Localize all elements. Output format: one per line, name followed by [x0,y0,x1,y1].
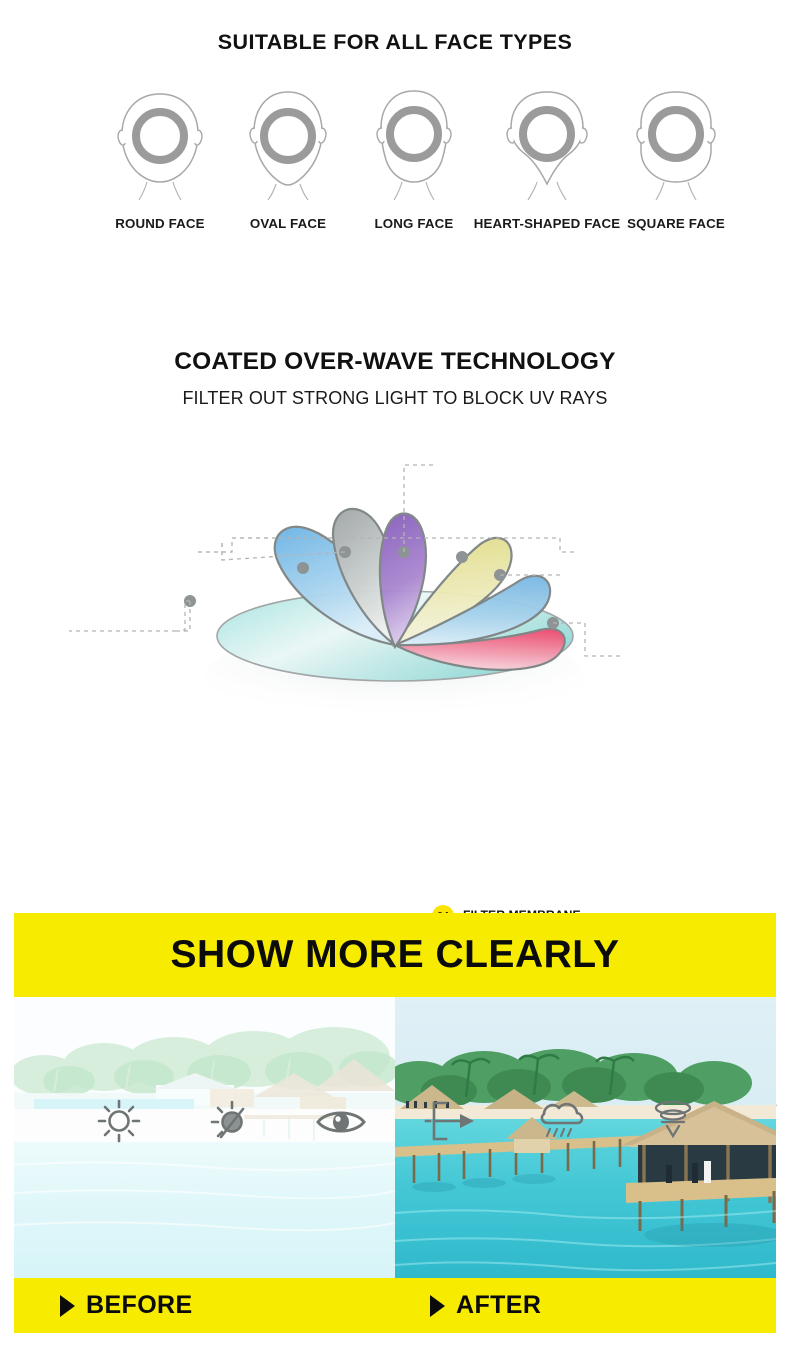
face-label-heart: HEART-SHAPED FACE [474,216,621,231]
technology-title: COATED OVER-WAVE TECHNOLOGY [0,348,790,376]
before-after-footer: BEFORE AFTER [14,1278,776,1333]
after-label: AFTER [456,1291,541,1320]
face-types-section: SUITABLE FOR ALL FACE TYPES ROUND FACE [0,0,790,300]
square-face-icon [628,88,724,200]
infographic-page: SUITABLE FOR ALL FACE TYPES ROUND FACE [0,0,790,1347]
face-types-row: ROUND FACE OVAL FACE [95,88,735,253]
feature-circle-wind [633,1088,711,1166]
feature-circle-sun [79,1088,157,1166]
rain-cloud-icon [523,1089,600,1166]
before-label: BEFORE [86,1291,193,1320]
face-card-long: LONG FACE [351,88,477,253]
face-types-title: SUITABLE FOR ALL FACE TYPES [0,30,790,55]
face-card-square: SQUARE FACE [617,88,735,253]
lens-layer-diagram: 04 FILTER MEMBRANE UV400 DOUBLE PROTECTI… [0,440,790,770]
technology-subtitle: FILTER OUT STRONG LIGHT TO BLOCK UV RAYS [0,388,790,409]
feature-circle-transmission [411,1088,489,1166]
show-more-clearly-banner: SHOW MORE CLEARLY [14,913,776,997]
feature-circle-eye [301,1088,379,1166]
face-card-round: ROUND FACE [95,88,225,253]
round-face-icon [112,88,208,200]
face-card-heart: HEART-SHAPED FACE [477,88,617,253]
banner-title: SHOW MORE CLEARLY [170,933,619,977]
long-face-icon [366,88,462,200]
face-label-long: LONG FACE [375,216,454,231]
lens-fan-graphic [0,440,790,770]
sun-blocked-icon [191,1089,268,1166]
coated-technology-section: COATED OVER-WAVE TECHNOLOGY FILTER OUT S… [0,300,790,910]
face-label-round: ROUND FACE [115,216,204,231]
before-label-group: BEFORE [60,1278,193,1333]
feature-circle-rain [522,1088,600,1166]
eye-icon [302,1089,379,1166]
feature-circle-uv-block [190,1088,268,1166]
after-label-group: AFTER [430,1278,541,1333]
light-transmission-icon [412,1089,489,1166]
heart-shaped-face-icon [499,88,595,200]
before-triangle-icon [60,1295,75,1317]
tornado-icon [634,1089,711,1166]
face-label-oval: OVAL FACE [250,216,326,231]
oval-face-icon [240,88,336,200]
face-label-square: SQUARE FACE [627,216,725,231]
face-card-oval: OVAL FACE [225,88,351,253]
sun-icon [80,1089,157,1166]
after-triangle-icon [430,1295,445,1317]
